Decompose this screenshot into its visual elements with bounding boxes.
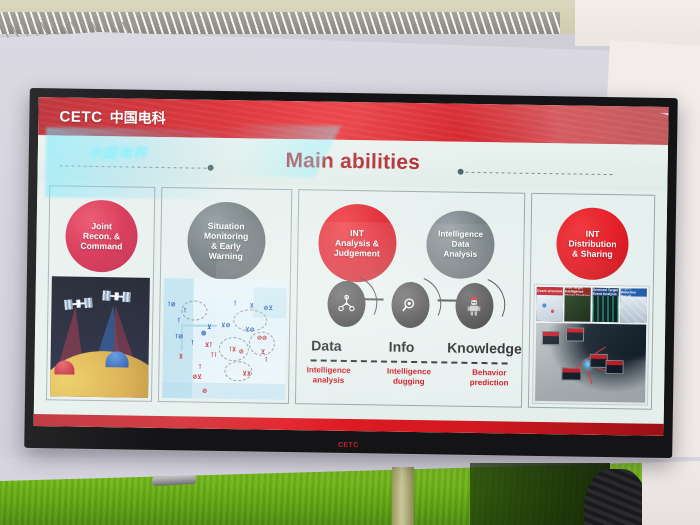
flow-divider [311,359,508,364]
cetc-logo: CETC 中国电科 [59,106,166,128]
title-dot-left [208,165,214,171]
flow-node-info[interactable] [391,282,430,329]
title-dot-right [458,169,464,175]
tv-screen: CETC 中国电科 Main abilities Joint Recon. & … [34,97,669,436]
page-title: Main abilities [285,149,420,175]
circle-int-analysis: INT Analysis & Judgement [317,203,396,282]
circle-joint-recon: Joint Recon. & Command [65,200,138,273]
circle-situation-monitoring: Situation Monitoring & Early Warning [186,201,265,280]
map-thumbnail [605,360,623,374]
vehicle-tire [584,469,648,525]
flow-label-info: Info [372,338,431,355]
flow-arc-icon [307,266,386,342]
image-tactical-map: ⊺⊘ ⊺ ⊺ ⊺⊘ ⊺ ◍ ⊻ ⊻⊘ ⊺ ⊻ ⊘⊻ ⊻⊘ ⊻⊺ [162,278,287,400]
flow-arc-icon [371,267,450,343]
cetc-logo-chinese: 中国电科 [109,107,165,128]
floor-right-base [642,463,700,525]
map-thumbnail [561,367,581,380]
flow-sub-data: Intelligence analysis [296,365,361,386]
map-thumbnail [566,327,584,341]
flow-node-knowledge[interactable] [455,283,494,330]
abilities-panel-row: Joint Recon. & Command [46,185,655,409]
flow-node-row [297,275,523,335]
ceiling-right-panel [575,0,700,46]
flow-label-row: Data Info Knowledge [297,335,522,359]
image-intelligence-dashboard: Event structure Real Target Intelligence… [532,284,650,406]
satellite-icon [104,294,130,298]
red-coverage-dome [54,360,74,374]
circle-intelligence-data-analysis: Intelligence Data Analysis [426,210,495,279]
flow-node-data[interactable] [327,281,366,328]
circle-joint-recon-label: Joint Recon. & Command [80,221,123,252]
map-thumbnail [542,331,560,345]
dashboard-card-row: Event structure Real Target Intelligence… [536,287,647,323]
flow-label-data: Data [297,337,356,354]
cetc-logo-latin: CETC [59,108,102,126]
dashboard-card: Event structure [536,287,563,321]
circle-int-distribution-label: INT Distribution & Sharing [568,228,617,259]
panel-joint-recon[interactable]: Joint Recon. & Command [46,185,155,402]
image-satellites-globe [50,276,150,398]
dashboard-card: Armored Target Event Analysis [592,288,619,322]
flow-sub-info: Intelligence dugging [377,366,442,387]
screenshot-root: CETC 中国电科 Main abilities Joint Recon. & … [0,0,700,525]
floor-post [392,467,414,525]
data-info-knowledge-flow: Data Info Knowledge Intelligence analysi… [296,275,523,401]
tv-brand-logo: CETC [338,442,359,449]
dashboard-card: Real Target Intelligence Target Tracking [564,287,591,321]
flow-label-knowledge: Knowledge [447,340,522,357]
flow-sub-knowledge: Behavior prediction [457,368,522,389]
flow-arc-icon [435,268,514,344]
panel-situation-monitoring[interactable]: Situation Monitoring & Early Warning [158,187,292,404]
flow-sublabel-row: Intelligence analysis Intelligence duggi… [296,365,521,389]
circle-int-analysis-label: INT Analysis & Judgement [334,228,380,259]
slide-footer-band [34,414,664,436]
dashboard-terrain-map [535,323,646,403]
circle-intelligence-data-analysis-label: Intelligence Data Analysis [438,230,483,260]
circle-int-distribution: INT Distribution & Sharing [556,207,629,280]
presentation-slide: CETC 中国电科 Main abilities Joint Recon. & … [34,97,669,436]
panel-int-distribution[interactable]: INT Distribution & Sharing Event structu… [528,193,655,410]
panel-int-analysis[interactable]: INT Analysis & Judgement Intelligence Da… [295,189,525,408]
wall-mounted-tv: CETC 中国电科 Main abilities Joint Recon. & … [24,88,678,458]
dashboard-card: Object Detection Result [620,288,647,322]
circle-situation-monitoring-label: Situation Monitoring & Early Warning [203,220,248,261]
